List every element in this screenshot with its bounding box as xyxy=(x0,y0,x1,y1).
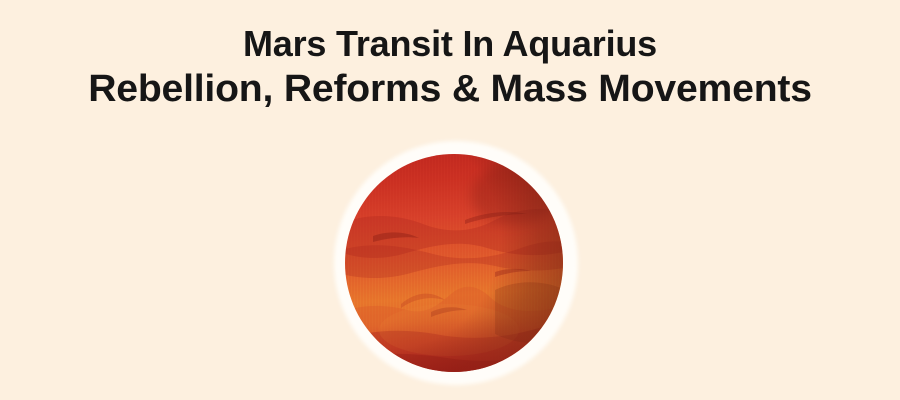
planet-bottom-shadow xyxy=(345,154,563,372)
headline-line-2: Rebellion, Reforms & Mass Movements xyxy=(0,66,900,112)
planet-body xyxy=(345,154,563,372)
headline-line-1: Mars Transit In Aquarius xyxy=(0,22,900,66)
mars-transit-banner: Mars Transit In Aquarius Rebellion, Refo… xyxy=(0,0,900,400)
page-title: Mars Transit In Aquarius Rebellion, Refo… xyxy=(0,22,900,112)
mars-planet-illustration xyxy=(334,141,578,385)
